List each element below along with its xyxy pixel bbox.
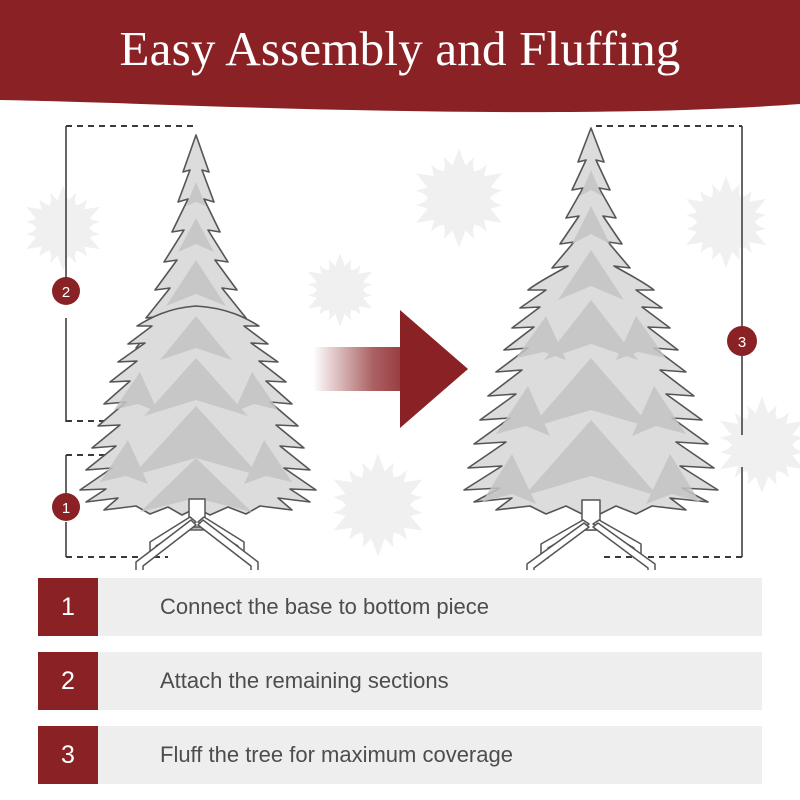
step-3-number-badge: 3 (38, 726, 98, 784)
transform-arrow (313, 310, 468, 428)
step-row-3[interactable]: 3 Fluff the tree for maximum coverage (38, 726, 762, 784)
assembly-diagram: 2 1 3 (0, 110, 800, 570)
step-2-bar: Attach the remaining sections (98, 652, 762, 710)
step-1-text: Connect the base to bottom piece (98, 594, 489, 620)
marker-1-label: 1 (62, 500, 70, 517)
step-row-2[interactable]: 2 Attach the remaining sections (38, 652, 762, 710)
marker-3: 3 (727, 326, 757, 356)
snowflake-icon (299, 253, 380, 327)
arrow-joint (400, 347, 412, 391)
step-2-text: Attach the remaining sections (98, 668, 449, 694)
step-row-1[interactable]: 1 Connect the base to bottom piece (38, 578, 762, 636)
stand-leg-outer-right-right (593, 523, 655, 570)
page-title: Easy Assembly and Fluffing (0, 20, 800, 78)
tree-bottom-section (80, 306, 316, 530)
snowflake-icon (675, 176, 777, 268)
marker-2-label: 2 (62, 284, 70, 301)
snowflake-icon (709, 397, 800, 494)
marker-2: 2 (52, 277, 80, 305)
page-header: Easy Assembly and Fluffing (0, 0, 800, 115)
stand-leg-outer-right (198, 520, 258, 570)
step-1-number-badge: 1 (38, 578, 98, 636)
step-3-bar: Fluff the tree for maximum coverage (98, 726, 762, 784)
page-root: Easy Assembly and Fluffing (0, 0, 800, 800)
tree-assembled (464, 128, 718, 530)
steps-list: 1 Connect the base to bottom piece 2 Att… (0, 575, 800, 790)
diagram-canvas: 2 1 3 (0, 110, 800, 570)
stand-leg-outer-left (136, 520, 196, 570)
marker-1: 1 (52, 493, 80, 521)
snowflake-icon (16, 186, 110, 271)
snowflake-icon (321, 453, 435, 556)
stand-leg-outer-left-right (527, 523, 589, 570)
marker-3-label: 3 (738, 334, 746, 351)
snowflake-icon (404, 148, 514, 247)
step-3-text: Fluff the tree for maximum coverage (98, 742, 513, 768)
step-2-number-badge: 2 (38, 652, 98, 710)
step-1-bar: Connect the base to bottom piece (98, 578, 762, 636)
